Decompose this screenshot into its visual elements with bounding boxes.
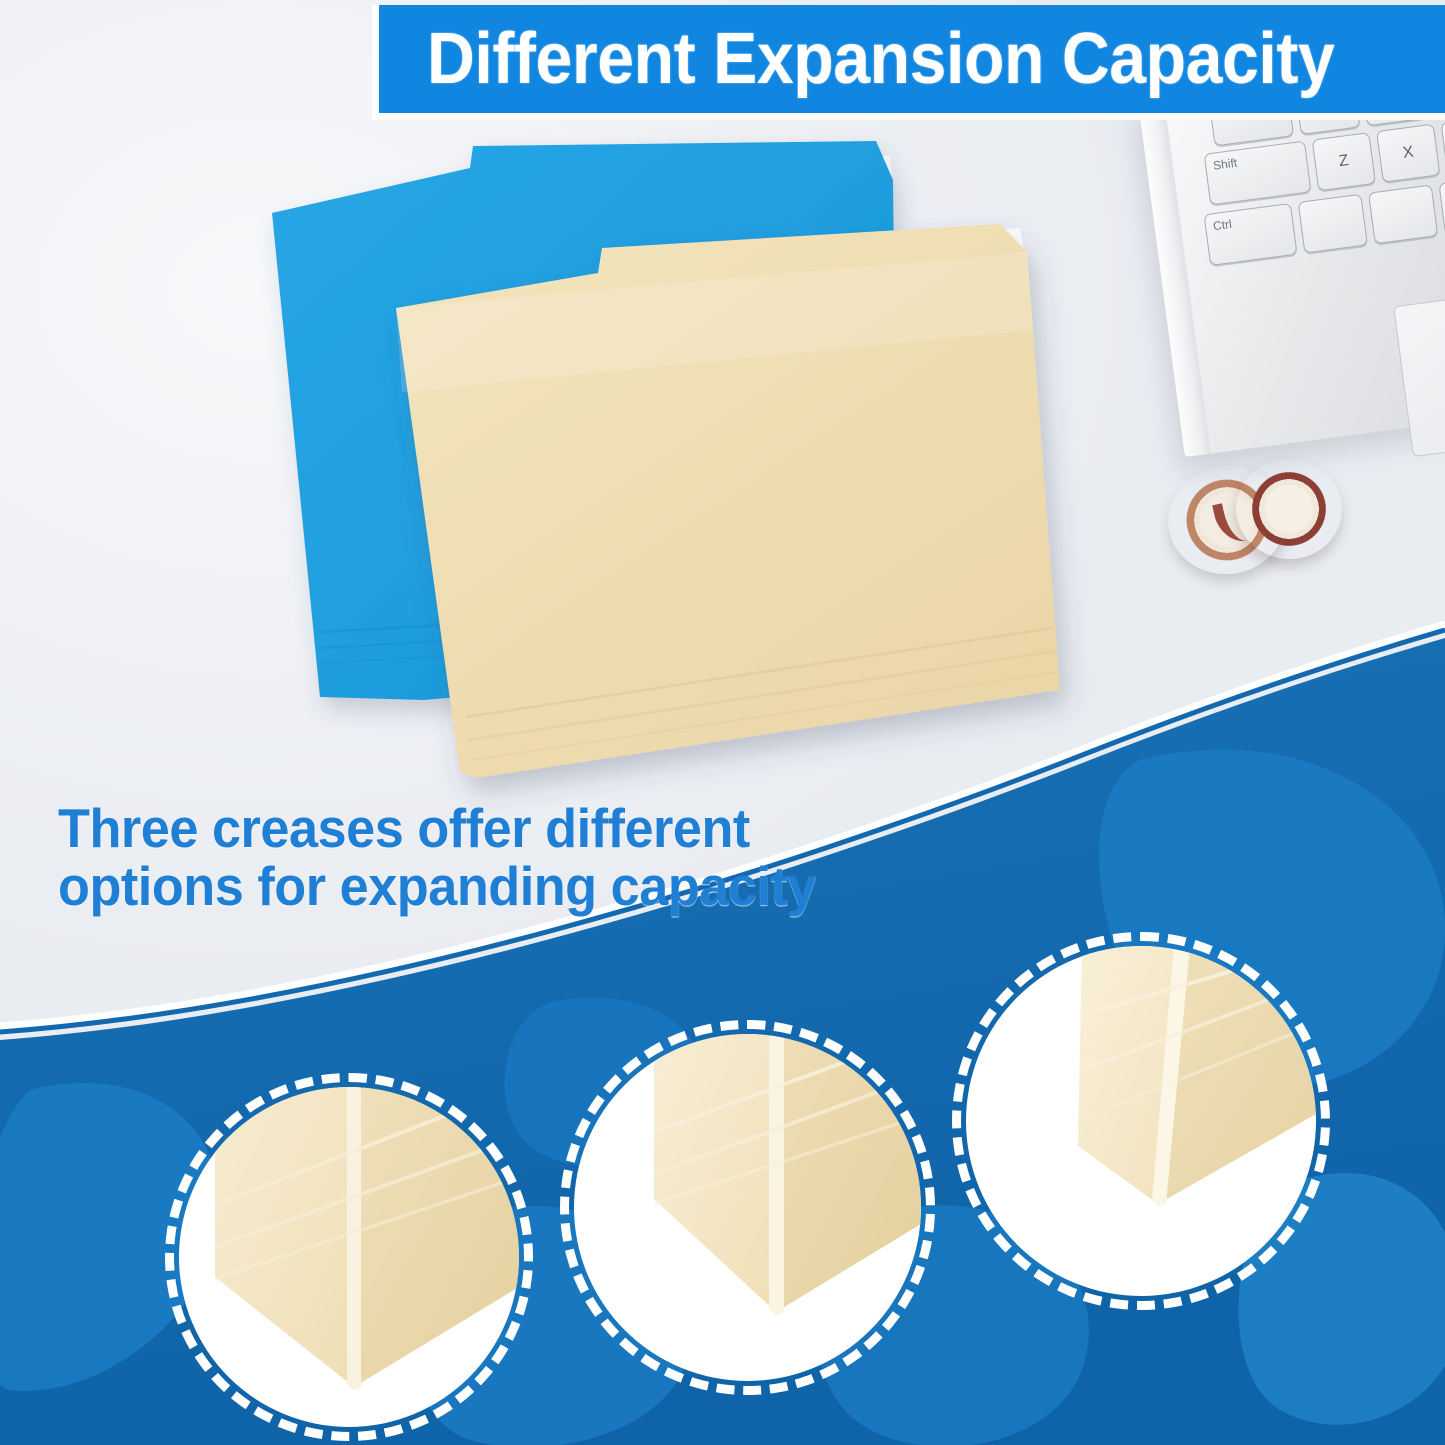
crease-callout-1-ring [165,1073,533,1441]
crease-callout-3 [952,932,1330,1310]
header-banner: Different Expansion Capacity [372,5,1445,120]
caption-line-2: options for expanding capacity [58,858,816,916]
crease-callout-1 [165,1073,533,1441]
caption-line-1: Three creases offer different [58,800,816,858]
folder-stack [0,0,1445,850]
manila-folder-group [396,224,1060,778]
infographic-canvas: Caps A Shift Z X C [0,0,1445,1445]
crease-callout-2 [560,1020,935,1395]
page-title: Different Expansion Capacity [427,23,1334,95]
crease-callout-2-ring [560,1020,935,1395]
crease-callout-3-ring [952,932,1330,1310]
caption-block: Three creases offer different options fo… [58,800,816,916]
